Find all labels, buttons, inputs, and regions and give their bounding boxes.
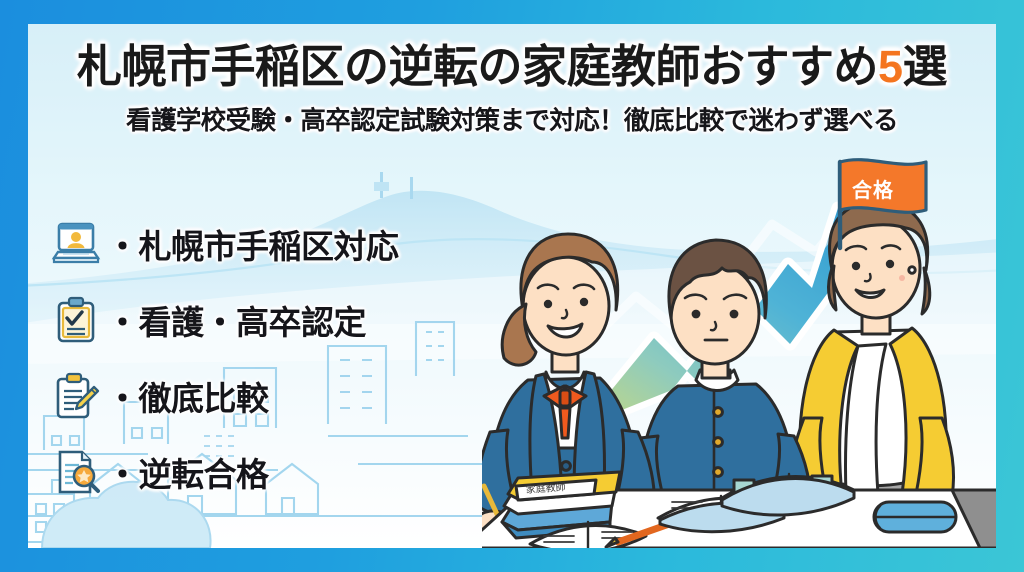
list-item: ・徹底比較 [50,368,399,424]
list-item-label: ・札幌市手稲区対応 [106,220,399,268]
laptop-person-icon [50,218,102,270]
title-block: 札幌市手稲区の逆転の家庭教師おすすめ5選 看護学校受験・高卒認定試験対策まで対応… [28,24,996,137]
page-subtitle: 看護学校受験・高卒認定試験対策まで対応！徹底比較で迷わず選べる [28,100,996,137]
page-title-main: 札幌市手稲区の逆転の家庭教師おすすめ [77,41,878,92]
document-magnifier-icon [50,446,102,498]
success-flag-label: 合格 [852,174,894,203]
clipboard-check-icon [50,294,102,346]
clipboard-pencil-icon [50,370,102,422]
list-item: ・逆転合格 [50,444,399,500]
page-title-tail: 選 [903,41,948,92]
success-flag: 合格 [806,152,956,252]
page-title: 札幌市手稲区の逆転の家庭教師おすすめ5選 [28,43,996,91]
poster-frame: 札幌市手稲区の逆転の家庭教師おすすめ5選 看護学校受験・高卒認定試験対策まで対応… [28,24,996,548]
list-item: ・看護・高卒認定 [50,292,399,348]
list-item-label: ・徹底比較 [106,372,269,420]
list-item: ・札幌市手稲区対応 [50,216,399,272]
pencil-case [874,502,956,532]
list-item-label: ・逆転合格 [106,448,269,496]
page-title-number: 5 [878,41,903,92]
list-item-label: ・看護・高卒認定 [106,296,366,344]
feature-list: ・札幌市手稲区対応 ・看護・高卒認定 [50,216,399,500]
